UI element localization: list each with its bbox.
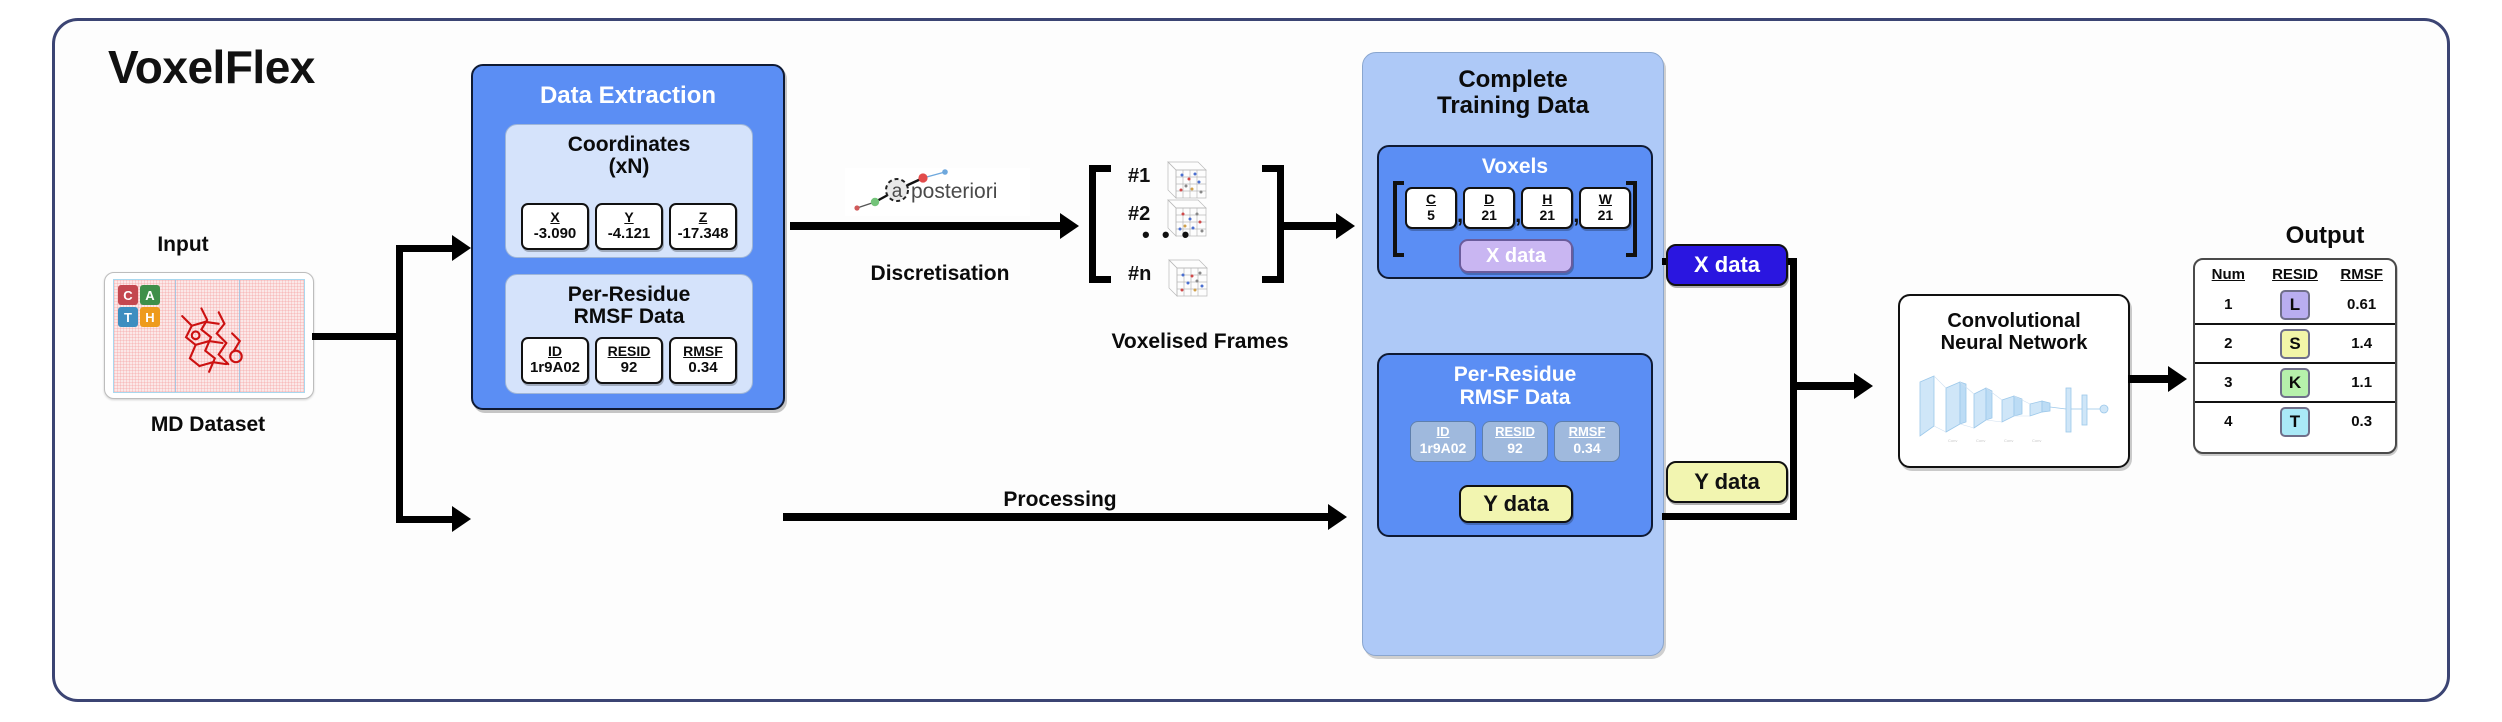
md-dataset-caption: MD Dataset [68,413,348,437]
cnn-box: Convolutional Neural Network [1898,294,2130,468]
svg-text:Conv: Conv [1976,438,1985,443]
chip-key: D [1467,191,1511,207]
chip-rmsf: RMSF 0.34 [669,337,737,384]
cell-resid: T [2262,402,2329,440]
column-header-resid: RESID [2262,260,2329,286]
x-data-pill: X data [1459,239,1573,273]
coordinates-chip-row: X -3.090 Y -4.121 Z -17.348 [514,203,744,250]
voxel-bracket-right [1262,165,1284,283]
svg-text:Conv: Conv [2004,438,2013,443]
voxels-dims-row: C 5 , D 21 , H 21 , W 21 [1405,187,1631,229]
chip-rmsf: RMSF 0.34 [1554,421,1620,462]
chip-value: 5 [1409,207,1453,224]
chip-voxel-w: W 21 [1579,187,1631,229]
y-data-badge: Y data [1666,461,1788,503]
training-rmsf-title-line2: RMSF Data [1460,386,1571,409]
voxelised-frames-caption: Voxelised Frames [1055,330,1345,354]
cnn-title-line2: Neural Network [1941,332,2088,354]
table-row: 4 T 0.3 [2195,402,2395,440]
branch-riser-bottom [396,333,403,523]
voxels-title: Voxels [1379,155,1651,178]
chip-key: X [528,209,582,225]
cath-badge-a: A [140,285,160,305]
chip-value: 21 [1467,207,1511,224]
aposteriori-logo: a posteriori [845,168,1030,216]
cell-num: 3 [2195,363,2262,402]
cell-num: 2 [2195,324,2262,363]
discretisation-arrow-line [790,222,1070,230]
table-row: 3 K 1.1 [2195,363,2395,402]
training-rmsf-chip-row: ID 1r9A02 RESID 92 RMSF 0.34 [1389,421,1641,462]
svg-text:Conv: Conv [2032,438,2041,443]
rmsf-chip-row: ID 1r9A02 RESID 92 RMSF 0.34 [514,337,744,384]
chip-key: W [1583,191,1627,207]
chip-coordinate-z: Z -17.348 [669,203,737,250]
chip-key: RMSF [1559,425,1615,440]
training-rmsf-title-line1: Per-Residue [1454,363,1577,386]
diagram-canvas: VoxelFlex Input C A T H [0,0,2502,722]
chip-value: 1r9A02 [1415,440,1471,457]
residue-badge: K [2280,368,2310,398]
cnn-title-line1: Convolutional [1947,310,2080,332]
processing-label: Processing [925,488,1195,512]
chip-id: ID 1r9A02 [1410,421,1476,462]
chip-resid: RESID 92 [1482,421,1548,462]
chip-value: 92 [1487,440,1543,457]
chip-voxel-d: D 21 [1463,187,1515,229]
branch-arm-bottom [396,516,456,523]
discretisation-arrow-head [1060,213,1079,239]
chip-key: RMSF [676,343,730,359]
branch-stem [312,333,402,340]
data-extraction-panel: Data Extraction Coordinates (xN) X -3.09… [471,64,785,410]
svg-text:a: a [892,181,903,202]
chip-value: -4.121 [602,225,656,243]
cell-resid: S [2262,324,2329,363]
cell-num: 1 [2195,286,2262,324]
branch-riser-top [396,245,403,340]
chip-value: 92 [602,359,656,377]
voxel-frame-tag: #1 [1128,165,1150,188]
input-label: Input [103,233,263,257]
table-header-row: Num RESID RMSF [2195,260,2395,286]
processing-arrow-line [783,513,1335,521]
page-title: VoxelFlex [108,40,315,94]
chip-key: Z [676,209,730,225]
discretisation-label: Discretisation [845,262,1035,286]
coordinates-title-line2: (xN) [609,155,650,178]
cath-badge-t: T [118,307,138,327]
chip-value: 0.34 [1559,440,1615,457]
aposteriori-wordmark: posteriori [911,180,997,203]
voxels-sub-panel: Voxels C 5 , D 21 , H 21 , [1377,145,1653,279]
coordinates-title: Coordinates (xN) [506,134,752,179]
rmsf-title-line1: Per-Residue [568,283,691,306]
cell-rmsf: 1.1 [2328,363,2395,402]
chip-key: H [1525,191,1569,207]
residue-badge: T [2280,407,2310,437]
voxel-frames-ellipsis: • • • [1142,222,1192,248]
y-data-pill: Y data [1459,485,1573,523]
output-label: Output [2230,222,2420,250]
chip-key: C [1409,191,1453,207]
cnn-architecture-icon: ConvConv ConvConv [1914,370,2114,448]
branch-arm-top [396,245,456,252]
voxel-cube-icon [1157,250,1213,298]
merge-to-cnn-line [1790,382,1860,390]
cell-resid: L [2262,286,2329,324]
cell-rmsf: 0.3 [2328,402,2395,440]
residue-badge: L [2280,290,2310,320]
cell-resid: K [2262,363,2329,402]
cell-num: 4 [2195,402,2262,440]
table-row: 2 S 1.4 [2195,324,2395,363]
chip-key: ID [1415,425,1471,440]
chip-key: Y [602,209,656,225]
arrow-head-to-rmsf [452,506,471,532]
cath-badge-group: C A T H [118,285,160,327]
protein-structure-icon [163,295,259,391]
rmsf-title-line2: RMSF Data [574,305,685,328]
chip-voxel-h: H 21 [1521,187,1573,229]
voxel-bracket-left [1089,165,1111,283]
complete-training-data-panel: Complete Training Data Voxels C 5 , D 21… [1362,52,1664,656]
training-data-title-line1: Complete [1458,66,1567,93]
table-row: 1 L 0.61 [2195,286,2395,324]
voxel-frame-tag: #n [1128,263,1151,286]
column-header-num: Num [2195,260,2262,286]
voxels-to-training-arrow-line [1284,222,1344,230]
training-rmsf-sub-panel: Per-Residue RMSF Data ID 1r9A02 RESID 92… [1377,353,1653,537]
voxel-frame-n: #n [1128,250,1213,298]
chip-value: 0.34 [676,359,730,377]
training-data-title: Complete Training Data [1363,67,1663,120]
chip-key: ID [528,343,582,359]
cnn-to-output-arrow-head [2168,366,2187,392]
data-extraction-title: Data Extraction [473,82,783,110]
merge-to-cnn-arrow-head [1854,373,1873,399]
chip-id: ID 1r9A02 [521,337,589,384]
training-rmsf-title: Per-Residue RMSF Data [1379,363,1651,409]
chip-resid: RESID 92 [595,337,663,384]
per-residue-rmsf-title: Per-Residue RMSF Data [506,284,752,329]
cnn-title: Convolutional Neural Network [1900,310,2128,355]
coordinates-title-line1: Coordinates [568,133,691,156]
md-dataset-image: C A T H [104,272,314,399]
chip-key: RESID [1487,425,1543,440]
chip-coordinate-y: Y -4.121 [595,203,663,250]
arrow-head-to-coordinates [452,235,471,261]
chip-key: RESID [602,343,656,359]
chip-value: 21 [1525,207,1569,224]
cell-rmsf: 1.4 [2328,324,2395,363]
residue-badge: S [2280,329,2310,359]
processing-arrow-head [1328,504,1347,530]
chip-voxel-c: C 5 [1405,187,1457,229]
x-data-badge: X data [1666,244,1788,286]
chip-value: -3.090 [528,225,582,243]
output-table: Num RESID RMSF 1 L 0.61 2 S [2193,258,2397,454]
column-header-rmsf: RMSF [2328,260,2395,286]
coordinates-card: Coordinates (xN) X -3.090 Y -4.121 Z -17… [505,124,753,258]
voxels-to-training-arrow-head [1336,213,1355,239]
cell-rmsf: 0.61 [2328,286,2395,324]
training-data-title-line2: Training Data [1437,92,1589,119]
svg-text:Conv: Conv [1948,438,1957,443]
cath-badge-c: C [118,285,138,305]
chip-coordinate-x: X -3.090 [521,203,589,250]
voxels-shape-bracket-left [1393,181,1404,257]
chip-value: -17.348 [676,225,730,243]
y-data-bus-bottom [1662,513,1797,520]
chip-value: 1r9A02 [528,359,582,377]
chip-value: 21 [1583,207,1627,224]
per-residue-rmsf-card: Per-Residue RMSF Data ID 1r9A02 RESID 92… [505,274,753,394]
cath-badge-h: H [140,307,160,327]
